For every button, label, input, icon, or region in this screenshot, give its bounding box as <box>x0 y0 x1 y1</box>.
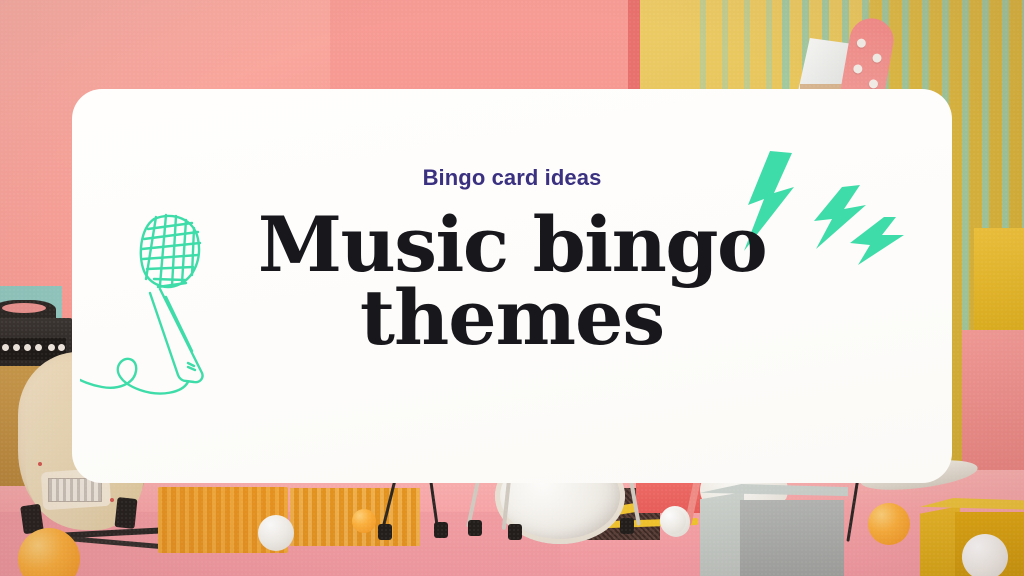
card-headline-line-1: Music bingo <box>72 209 952 282</box>
slide-canvas: Bingo card ideas Music bingo themes <box>0 0 1024 576</box>
card-headline: Music bingo themes <box>72 209 952 355</box>
content-card-inner: Bingo card ideas Music bingo themes <box>72 89 952 483</box>
card-eyebrow-text: Bingo card ideas <box>72 165 952 191</box>
content-card: Bingo card ideas Music bingo themes <box>72 89 952 483</box>
card-headline-line-2: themes <box>72 282 952 355</box>
